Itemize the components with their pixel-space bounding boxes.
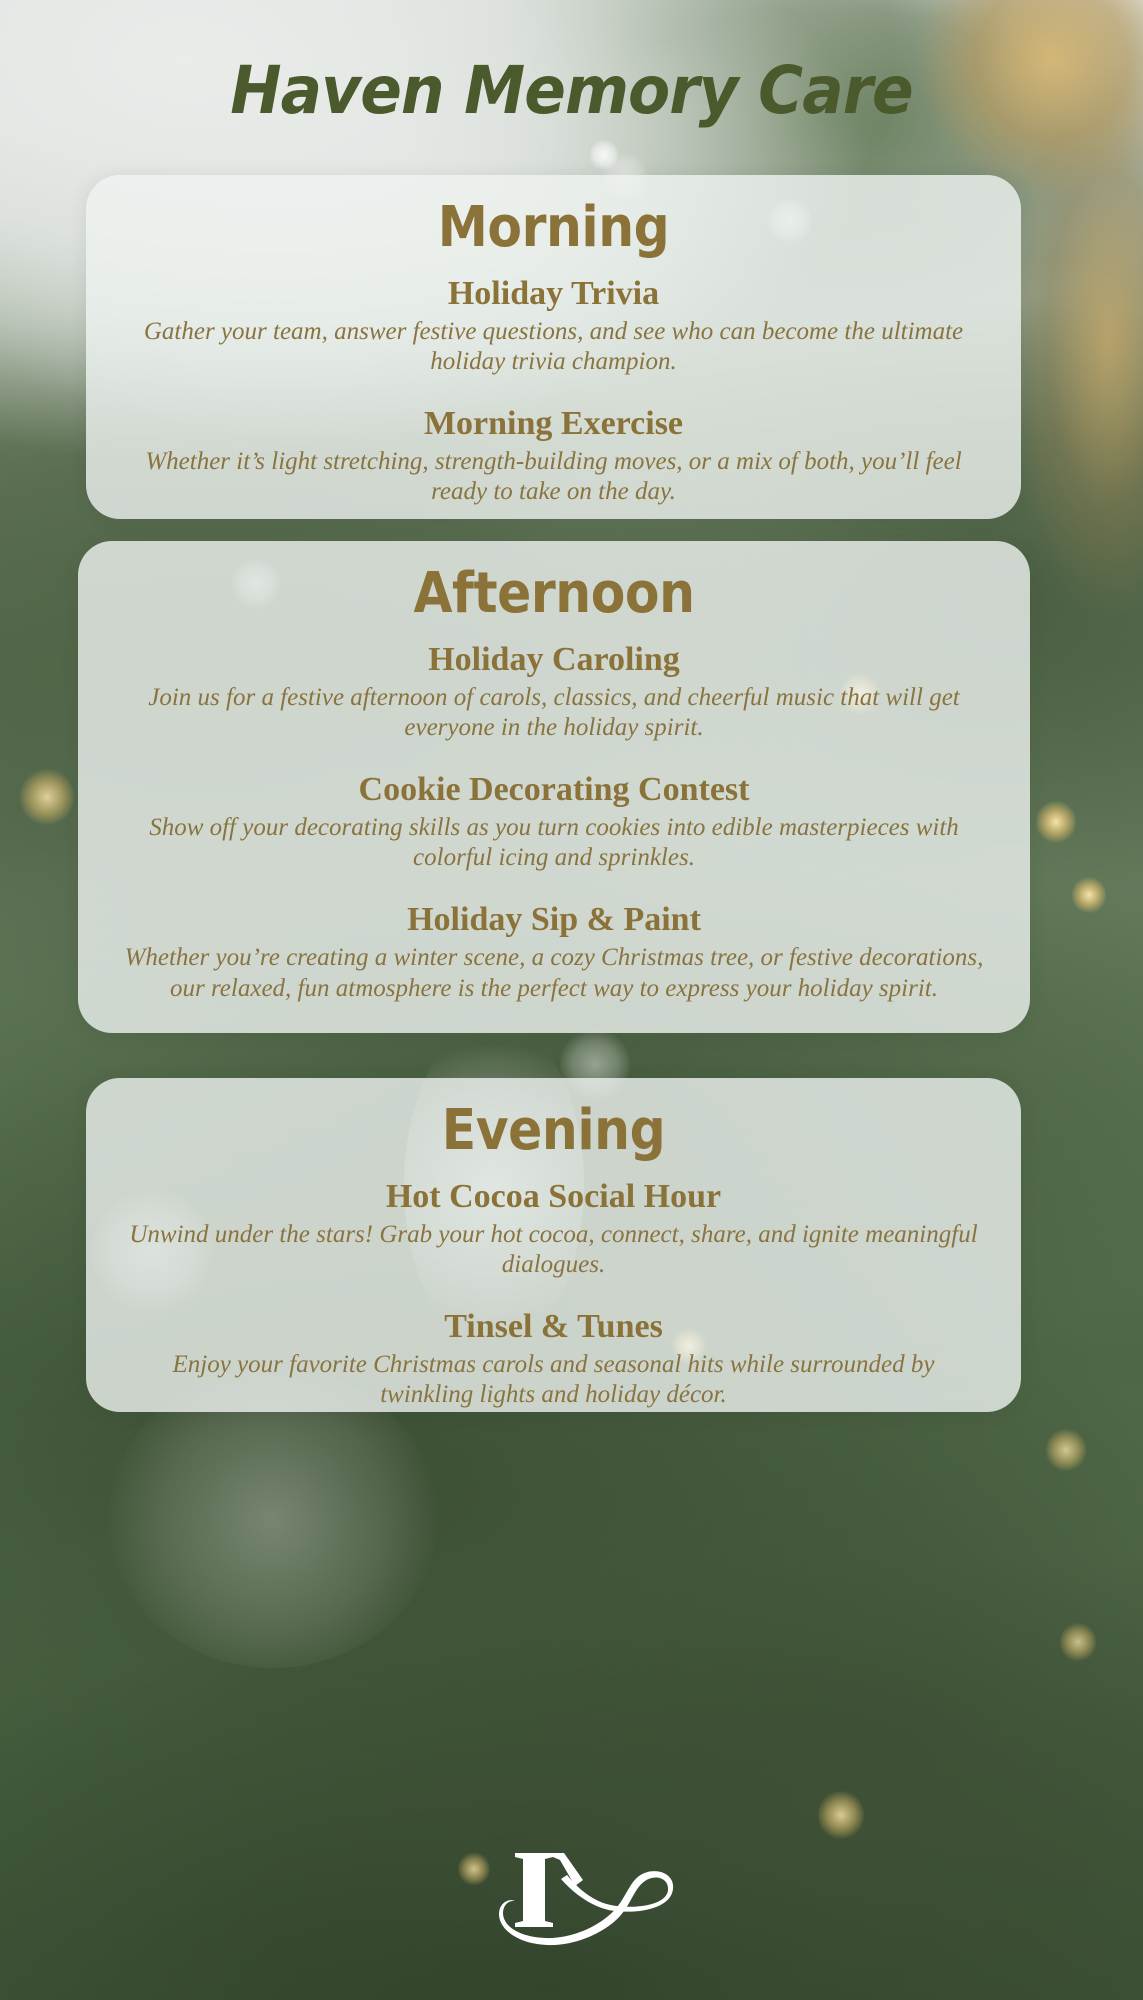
section-card-morning: Morning Holiday Trivia Gather your team,… bbox=[86, 175, 1021, 519]
logo-k-icon bbox=[457, 1845, 687, 1965]
activity-item: Holiday Sip & Paint Whether you’re creat… bbox=[120, 900, 988, 1004]
section-heading-afternoon: Afternoon bbox=[163, 565, 944, 624]
activity-name: Tinsel & Tunes bbox=[128, 1307, 979, 1346]
activity-description: Show off your decorating skills as you t… bbox=[120, 813, 988, 874]
activity-item: Cookie Decorating Contest Show off your … bbox=[120, 770, 988, 874]
activity-description: Whether you’re creating a winter scene, … bbox=[120, 943, 988, 1004]
activity-description: Gather your team, answer festive questio… bbox=[128, 317, 979, 378]
section-card-afternoon: Afternoon Holiday Caroling Join us for a… bbox=[78, 541, 1030, 1033]
activity-item: Holiday Caroling Join us for a festive a… bbox=[120, 640, 988, 744]
page-title: Haven Memory Care bbox=[40, 52, 1103, 129]
activity-name: Holiday Caroling bbox=[120, 640, 988, 679]
brand-logo bbox=[0, 1845, 1143, 1970]
section-heading-evening: Evening bbox=[171, 1102, 937, 1161]
poster: Haven Memory Care Morning Holiday Trivia… bbox=[0, 0, 1143, 2000]
activity-description: Enjoy your favorite Christmas carols and… bbox=[128, 1350, 979, 1411]
activity-name: Hot Cocoa Social Hour bbox=[128, 1177, 979, 1216]
activity-item: Morning Exercise Whether it’s light stre… bbox=[128, 404, 979, 508]
activity-name: Holiday Sip & Paint bbox=[120, 900, 988, 939]
section-heading-morning: Morning bbox=[171, 199, 937, 258]
activity-item: Tinsel & Tunes Enjoy your favorite Chris… bbox=[128, 1307, 979, 1411]
activity-item: Holiday Trivia Gather your team, answer … bbox=[128, 274, 979, 378]
activity-description: Unwind under the stars! Grab your hot co… bbox=[128, 1220, 979, 1281]
activity-description: Join us for a festive afternoon of carol… bbox=[120, 683, 988, 744]
activity-name: Cookie Decorating Contest bbox=[120, 770, 988, 809]
activity-description: Whether it’s light stretching, strength-… bbox=[128, 447, 979, 508]
activity-item: Hot Cocoa Social Hour Unwind under the s… bbox=[128, 1177, 979, 1281]
activity-name: Morning Exercise bbox=[128, 404, 979, 443]
activity-name: Holiday Trivia bbox=[128, 274, 979, 313]
section-card-evening: Evening Hot Cocoa Social Hour Unwind und… bbox=[86, 1078, 1021, 1412]
